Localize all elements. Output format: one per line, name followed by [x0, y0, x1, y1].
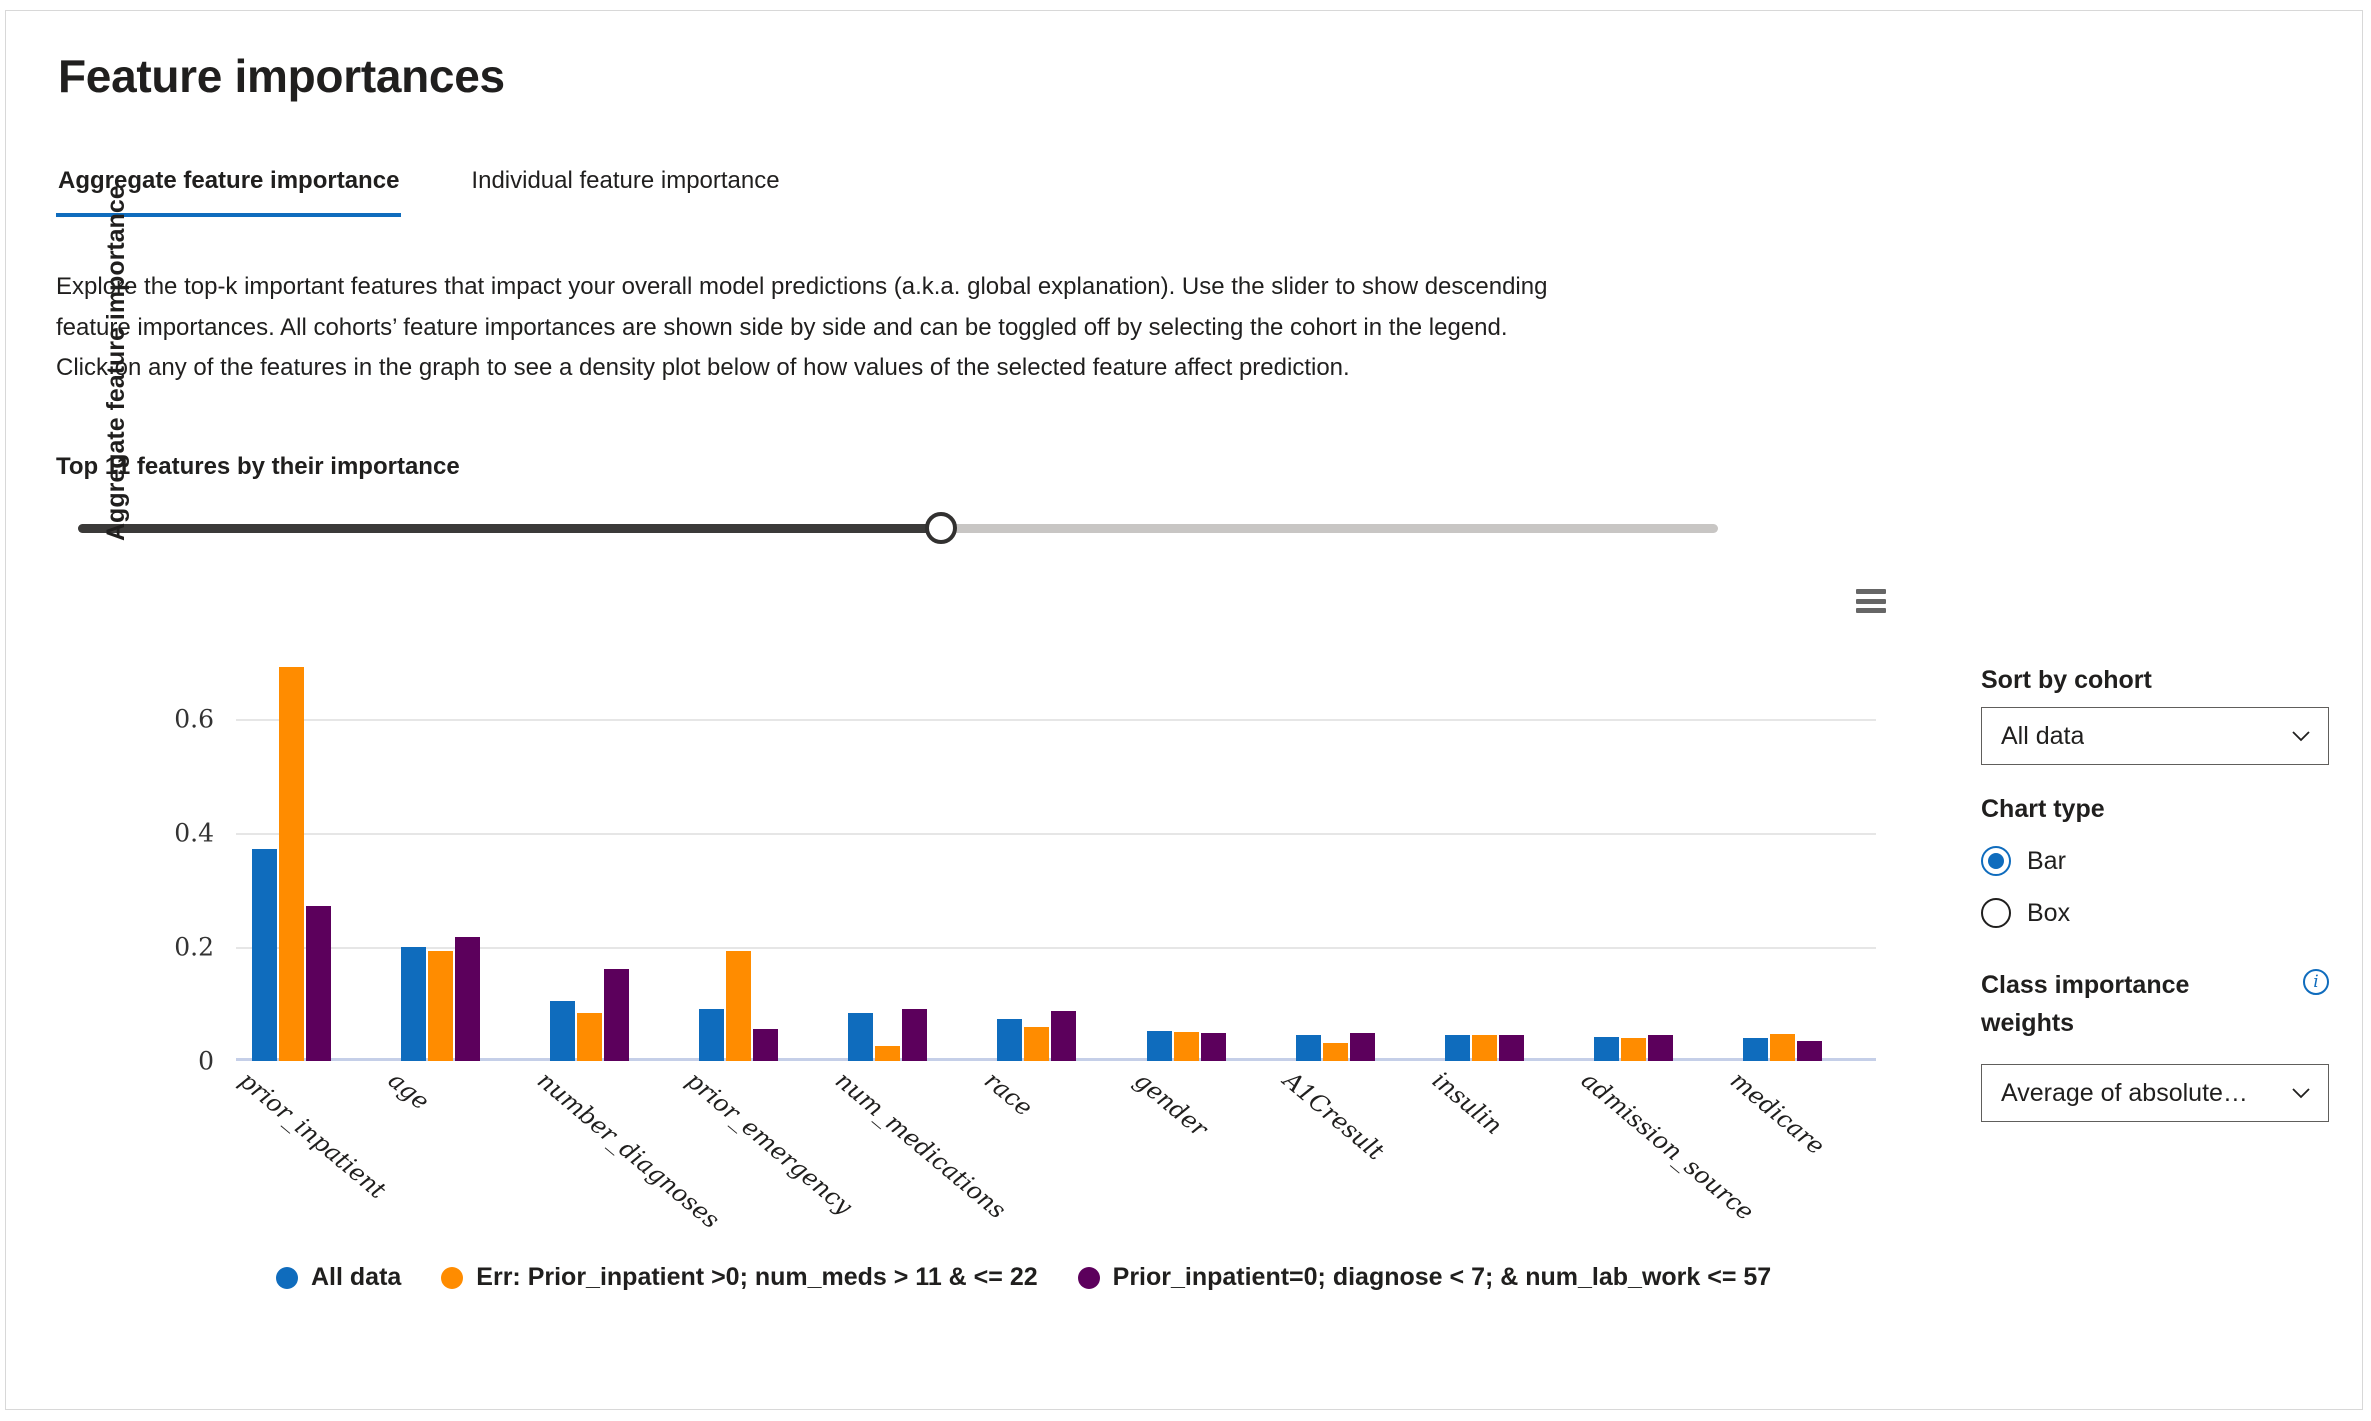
bar[interactable]: [1323, 1043, 1348, 1061]
chart-type-option-bar[interactable]: Bar: [1981, 846, 2331, 876]
chart-type-option-box[interactable]: Box: [1981, 898, 2331, 928]
chevron-down-icon: [2291, 726, 2311, 746]
chart-controls-sidebar: Sort by cohort All data Chart type Bar B…: [1981, 666, 2331, 1122]
bar[interactable]: [306, 906, 331, 1061]
info-icon[interactable]: i: [2303, 969, 2329, 995]
bar-group[interactable]: [1578, 651, 1727, 1061]
sort-by-cohort-label: Sort by cohort: [1981, 666, 2331, 695]
bar[interactable]: [279, 667, 304, 1061]
legend-color-dot: [1078, 1267, 1100, 1289]
hamburger-bar: [1856, 589, 1886, 594]
bar[interactable]: [401, 947, 426, 1061]
chart-type-option-label: Box: [2027, 899, 2070, 928]
description-text: Explore the top-k important features tha…: [56, 267, 1561, 389]
bar[interactable]: [753, 1029, 778, 1061]
legend-item[interactable]: All data: [276, 1263, 401, 1292]
bar-group[interactable]: [1727, 651, 1876, 1061]
class-importance-weights-label: Class importance weights: [1981, 966, 2261, 1042]
x-axis-label: insulin: [1427, 1066, 1508, 1140]
hamburger-bar: [1856, 608, 1886, 613]
bar[interactable]: [1024, 1027, 1049, 1061]
radio-box[interactable]: [1981, 898, 2011, 928]
hamburger-bar: [1856, 599, 1886, 604]
bar[interactable]: [1296, 1035, 1321, 1061]
sort-by-cohort-dropdown[interactable]: All data: [1981, 707, 2329, 765]
chevron-down-icon: [2291, 1083, 2311, 1103]
legend-color-dot: [276, 1267, 298, 1289]
bar[interactable]: [1743, 1038, 1768, 1061]
tab-individual-feature-importance[interactable]: Individual feature importance: [469, 163, 781, 217]
bar[interactable]: [1770, 1034, 1795, 1061]
bar[interactable]: [1797, 1041, 1822, 1061]
legend-label: Prior_inpatient=0; diagnose < 7; & num_l…: [1113, 1263, 1772, 1292]
bar[interactable]: [997, 1019, 1022, 1061]
bar[interactable]: [604, 969, 629, 1061]
x-axis-label: prior_inpatient: [234, 1066, 391, 1204]
bar-groups: [236, 651, 1876, 1061]
bar[interactable]: [577, 1013, 602, 1061]
slider-fill: [78, 524, 941, 533]
bar[interactable]: [848, 1013, 873, 1061]
bar-group[interactable]: [385, 651, 534, 1061]
bar[interactable]: [699, 1009, 724, 1061]
bar[interactable]: [1445, 1035, 1470, 1061]
app-frame: Feature importances Aggregate feature im…: [5, 10, 2363, 1410]
tab-list: Aggregate feature importance Individual …: [56, 163, 782, 217]
y-axis-tick: 0.2: [116, 933, 236, 962]
bar[interactable]: [455, 937, 480, 1061]
page-title: Feature importances: [58, 49, 505, 103]
bar-group[interactable]: [1429, 651, 1578, 1061]
bar[interactable]: [1648, 1035, 1673, 1061]
legend-label: All data: [311, 1263, 401, 1292]
y-axis-ticks: 00.20.40.6: [116, 651, 236, 1061]
plot-area: [236, 651, 1876, 1061]
class-importance-weights-value: Average of absolute…: [2001, 1079, 2248, 1108]
x-axis-label: A1Cresult: [1278, 1066, 1389, 1166]
bar[interactable]: [1594, 1037, 1619, 1061]
bar-group[interactable]: [683, 651, 832, 1061]
x-axis-label: race: [979, 1066, 1038, 1122]
bar[interactable]: [1174, 1032, 1199, 1061]
y-axis-tick: 0.4: [116, 819, 236, 848]
bar[interactable]: [1051, 1011, 1076, 1061]
bar-group[interactable]: [534, 651, 683, 1061]
x-axis-labels: prior_inpatientagenumber_diagnosesprior_…: [236, 1066, 1876, 1256]
bar[interactable]: [1201, 1033, 1226, 1061]
sort-by-cohort-value: All data: [2001, 722, 2084, 751]
bar-group[interactable]: [832, 651, 981, 1061]
y-axis-title: Aggregate feature importance: [102, 185, 131, 541]
bar[interactable]: [1472, 1035, 1497, 1061]
legend-color-dot: [441, 1267, 463, 1289]
bar[interactable]: [252, 849, 277, 1061]
bar[interactable]: [902, 1009, 927, 1061]
x-axis-label: gender: [1129, 1066, 1213, 1143]
bar[interactable]: [875, 1046, 900, 1061]
bar-group[interactable]: [1280, 651, 1429, 1061]
chart-type-label: Chart type: [1981, 795, 2331, 824]
legend-item[interactable]: Err: Prior_inpatient >0; num_meds > 11 &…: [441, 1263, 1037, 1292]
bar[interactable]: [1147, 1031, 1172, 1061]
bar[interactable]: [1350, 1033, 1375, 1061]
y-axis-tick: 0: [116, 1047, 236, 1076]
legend-label: Err: Prior_inpatient >0; num_meds > 11 &…: [476, 1263, 1037, 1292]
chart-menu-icon[interactable]: [1856, 589, 1886, 613]
bar-group[interactable]: [981, 651, 1130, 1061]
bar-group[interactable]: [236, 651, 385, 1061]
slider-thumb[interactable]: [925, 512, 957, 544]
bar[interactable]: [550, 1001, 575, 1061]
topk-slider[interactable]: [78, 509, 1718, 549]
chart-type-option-label: Bar: [2027, 847, 2066, 876]
y-axis-tick: 0.6: [116, 705, 236, 734]
x-axis-label: age: [383, 1066, 435, 1116]
bar-group[interactable]: [1131, 651, 1280, 1061]
chart-legend: All dataErr: Prior_inpatient >0; num_med…: [276, 1263, 1811, 1292]
tab-label: Individual feature importance: [471, 167, 779, 194]
radio-bar[interactable]: [1981, 846, 2011, 876]
bar[interactable]: [1621, 1038, 1646, 1061]
legend-item[interactable]: Prior_inpatient=0; diagnose < 7; & num_l…: [1078, 1263, 1772, 1292]
x-axis-label: medicare: [1725, 1066, 1830, 1160]
class-importance-weights-dropdown[interactable]: Average of absolute…: [1981, 1064, 2329, 1122]
bar[interactable]: [726, 951, 751, 1061]
bar[interactable]: [428, 951, 453, 1061]
bar[interactable]: [1499, 1035, 1524, 1061]
